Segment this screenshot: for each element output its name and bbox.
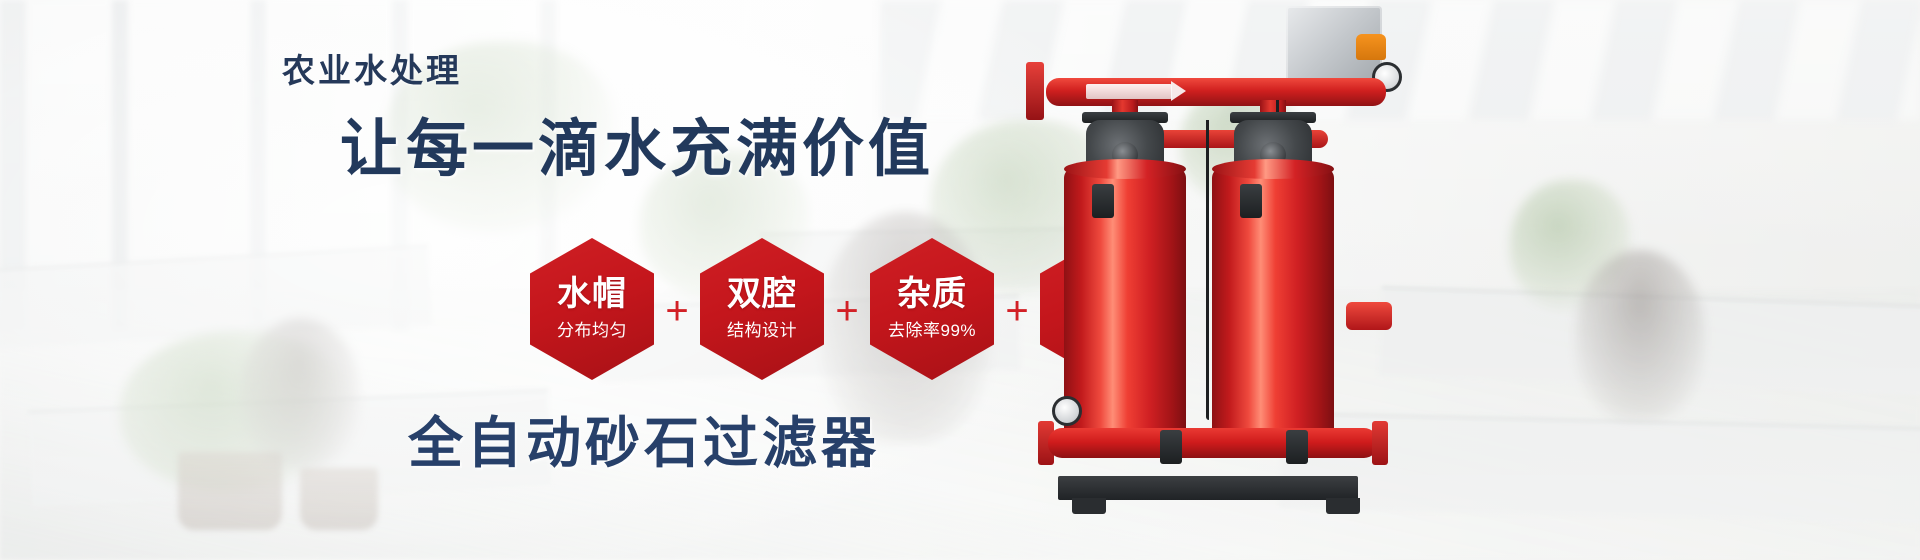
tank-top-cap xyxy=(1064,159,1186,179)
feature-badge-1: 水帽 分布均匀 xyxy=(530,238,654,380)
base-foot xyxy=(1072,498,1106,514)
manifold-valve xyxy=(1160,430,1182,464)
banner-headline-main: 让每一滴水充满价值 xyxy=(340,98,934,188)
feature-badge-2: 双腔 结构设计 xyxy=(700,238,824,380)
banner-headline-sub: 全自动砂石过滤器 xyxy=(408,398,880,478)
feature-badge-3: 杂质 去除率99% xyxy=(870,238,994,380)
side-outlet-arm xyxy=(1346,302,1392,330)
sand-filter-equipment-image: BANCAMA xyxy=(1000,0,1520,560)
plus-separator-icon: + xyxy=(654,291,700,331)
manifold-valve xyxy=(1286,430,1308,464)
flow-direction-arrow-icon xyxy=(1086,84,1172,99)
tank-side-valve xyxy=(1240,184,1262,218)
filter-tank-right xyxy=(1212,168,1334,436)
tank-top-cap xyxy=(1212,159,1334,179)
inlet-flange xyxy=(1026,62,1044,120)
product-banner: 农业水处理 让每一滴水充满价值 全自动砂石过滤器 水帽 分布均匀 + 双腔 结构… xyxy=(0,0,1920,560)
feature-badge-1-title: 水帽 xyxy=(557,277,627,313)
banner-eyebrow: 农业水处理 xyxy=(282,44,462,92)
equipment-base-frame xyxy=(1058,476,1358,500)
feature-badge-3-title: 杂质 xyxy=(897,277,967,313)
bottom-manifold-pipe xyxy=(1048,428,1378,458)
plus-separator-icon: + xyxy=(824,291,870,331)
orange-cap-valve xyxy=(1356,34,1386,60)
tank-side-valve xyxy=(1092,184,1114,218)
feature-badge-1-sub: 分布均匀 xyxy=(557,316,627,341)
control-cable xyxy=(1206,120,1209,420)
feature-badge-3-sub: 去除率99% xyxy=(888,316,976,341)
feature-badge-2-sub: 结构设计 xyxy=(727,316,797,341)
manifold-flange-right xyxy=(1372,421,1388,465)
feature-badge-2-title: 双腔 xyxy=(727,277,797,313)
pressure-gauge-bottom xyxy=(1052,396,1082,426)
filter-tank-left xyxy=(1064,168,1186,436)
base-foot xyxy=(1326,498,1360,514)
